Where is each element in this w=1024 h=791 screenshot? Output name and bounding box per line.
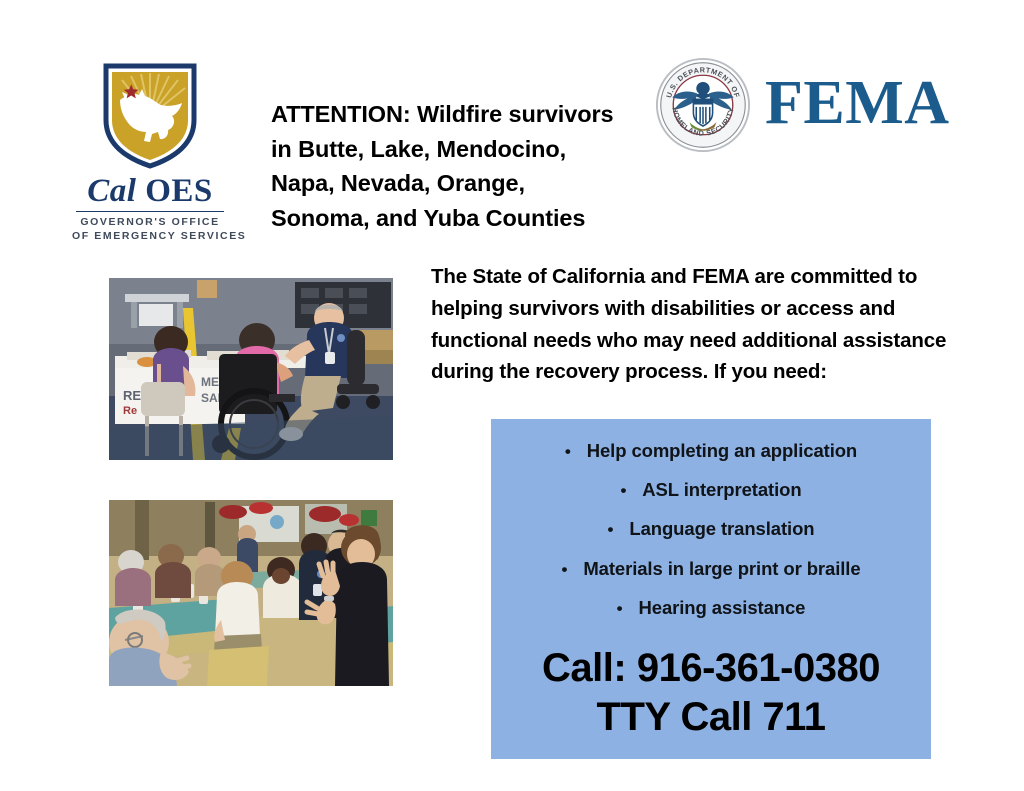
list-item: •Language translation bbox=[491, 510, 931, 549]
tty-number[interactable]: TTY Call 711 bbox=[491, 693, 931, 742]
accessibility-outreach-poster: Cal OES GOVERNOR'S OFFICE OF EMERGENCY S… bbox=[0, 0, 1024, 791]
body-paragraph: The State of California and FEMA are com… bbox=[431, 261, 1011, 388]
asl-interpreter-shelter-photo bbox=[109, 500, 393, 686]
bullet-icon: • bbox=[608, 520, 614, 539]
list-item-label: Help completing an application bbox=[587, 440, 857, 461]
disaster-recovery-center-photo: RE Re MEE SAFE bbox=[109, 278, 393, 460]
body-line-4: during the recovery process. If you need… bbox=[431, 356, 1011, 388]
svg-text:RE: RE bbox=[123, 388, 141, 403]
list-item-label: Language translation bbox=[629, 518, 814, 539]
headline-line-3: Napa, Nevada, Orange, bbox=[271, 166, 651, 201]
caloes-bear-shield-icon bbox=[98, 58, 202, 170]
caloes-logo: Cal OES GOVERNOR'S OFFICE OF EMERGENCY S… bbox=[72, 58, 228, 240]
bullet-icon: • bbox=[565, 442, 571, 461]
headline-line-1: ATTENTION: Wildfire survivors bbox=[271, 97, 651, 132]
services-info-box: •Help completing an application •ASL int… bbox=[491, 419, 931, 759]
list-item-label: Materials in large print or braille bbox=[583, 558, 860, 579]
bullet-icon: • bbox=[620, 481, 626, 500]
caloes-divider bbox=[76, 211, 224, 212]
caloes-subtitle-line1: GOVERNOR'S OFFICE bbox=[72, 215, 228, 229]
dhs-seal-icon: U.S. DEPARTMENT OF HOMELAND SECURITY bbox=[655, 57, 751, 153]
fema-wordmark: FEMA bbox=[765, 72, 950, 134]
caloes-wordmark: Cal OES GOVERNOR'S OFFICE OF EMERGENCY S… bbox=[72, 174, 228, 243]
headline-line-4: Sonoma, and Yuba Counties bbox=[271, 201, 651, 236]
caloes-wordmark-text: Cal OES bbox=[72, 174, 228, 209]
caloes-subtitle-line2: OF EMERGENCY SERVICES bbox=[72, 229, 228, 243]
services-bullet-list: •Help completing an application •ASL int… bbox=[491, 431, 931, 628]
list-item-label: ASL interpretation bbox=[642, 479, 801, 500]
contact-block: Call: 916-361-0380 TTY Call 711 bbox=[491, 644, 931, 742]
list-item: •Help completing an application bbox=[491, 431, 931, 470]
bullet-icon: • bbox=[617, 599, 623, 618]
list-item-label: Hearing assistance bbox=[639, 597, 806, 618]
list-item: •ASL interpretation bbox=[491, 470, 931, 509]
svg-text:Re: Re bbox=[123, 405, 137, 417]
list-item: •Materials in large print or braille bbox=[491, 549, 931, 588]
page-title: ATTENTION: Wildfire survivors in Butte, … bbox=[271, 97, 651, 235]
caloes-wordmark-oes: OES bbox=[145, 173, 213, 209]
body-line-2: helping survivors with disabilities or a… bbox=[431, 293, 1011, 325]
body-line-1: The State of California and FEMA are com… bbox=[431, 261, 1011, 293]
body-line-3: functional needs who may need additional… bbox=[431, 325, 1011, 357]
list-item: •Hearing assistance bbox=[491, 588, 931, 627]
phone-number[interactable]: Call: 916-361-0380 bbox=[491, 644, 931, 693]
headline-line-2: in Butte, Lake, Mendocino, bbox=[271, 132, 651, 167]
bullet-icon: • bbox=[561, 560, 567, 579]
fema-logo-lockup: U.S. DEPARTMENT OF HOMELAND SECURITY FEM… bbox=[655, 55, 955, 155]
caloes-wordmark-cal: Cal bbox=[87, 173, 136, 209]
